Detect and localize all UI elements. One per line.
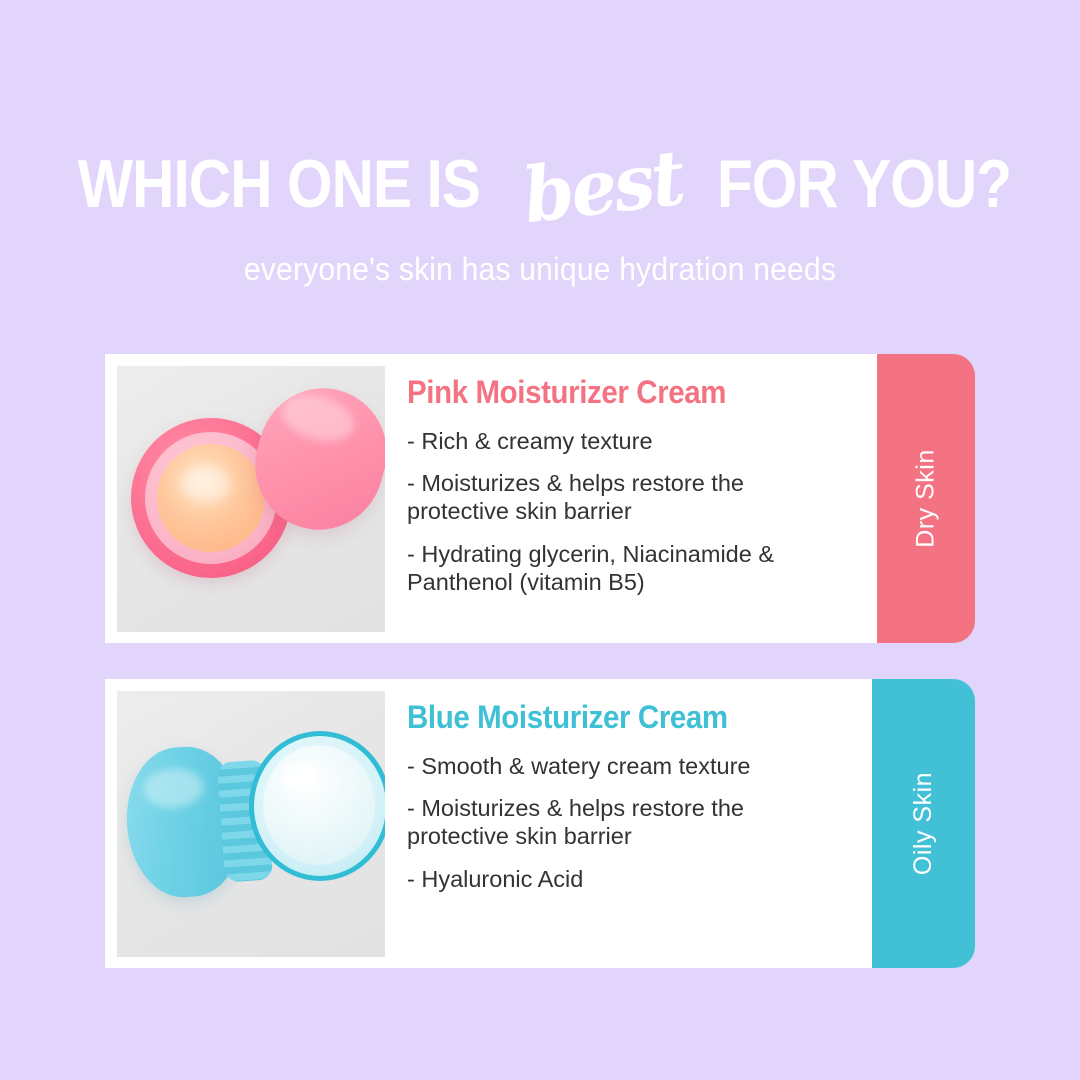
product-card-body: Blue Moisturizer Cream - Smooth & watery…: [105, 679, 872, 968]
product-card-blue: Blue Moisturizer Cream - Smooth & watery…: [105, 679, 975, 968]
product-info-pink: Pink Moisturizer Cream - Rich & creamy t…: [385, 366, 865, 610]
pink-cream-shape: [157, 444, 265, 552]
product-bullet: - Moisturizes & helps restore the protec…: [407, 469, 849, 525]
skin-type-tab-oily: Oily Skin: [872, 679, 975, 968]
page-subtitle: everyone's skin has unique hydration nee…: [32, 251, 1047, 288]
product-title-pink: Pink Moisturizer Cream: [407, 374, 813, 411]
infographic-poster: WHICH ONE IS best FOR YOU? everyone's sk…: [0, 0, 1080, 1080]
product-card-body: Pink Moisturizer Cream - Rich & creamy t…: [105, 354, 877, 643]
product-title-blue: Blue Moisturizer Cream: [407, 699, 809, 736]
page-title: WHICH ONE IS best FOR YOU?: [0, 136, 1080, 225]
product-image-pink: [117, 366, 385, 632]
headline-part-2: FOR YOU?: [716, 145, 1010, 223]
headline-part-1: WHICH ONE IS: [78, 145, 480, 223]
skin-type-tab-dry: Dry Skin: [877, 354, 975, 643]
product-bullet: - Hyaluronic Acid: [407, 865, 844, 893]
product-info-blue: Blue Moisturizer Cream - Smooth & watery…: [385, 691, 860, 907]
product-bullet: - Smooth & watery cream texture: [407, 752, 844, 780]
skin-type-tab-label: Dry Skin: [911, 449, 940, 547]
header: WHICH ONE IS best FOR YOU? everyone's sk…: [0, 0, 1080, 288]
product-bullet: - Hydrating glycerin, Niacinamide & Pant…: [407, 540, 849, 596]
skin-type-tab-label: Oily Skin: [909, 772, 938, 875]
headline-script-word: best: [513, 132, 693, 241]
product-card-pink: Pink Moisturizer Cream - Rich & creamy t…: [105, 354, 975, 643]
product-bullet: - Rich & creamy texture: [407, 427, 849, 455]
product-image-blue: [117, 691, 385, 957]
product-bullet: - Moisturizes & helps restore the protec…: [407, 794, 844, 850]
blue-cream-shape: [263, 745, 375, 865]
